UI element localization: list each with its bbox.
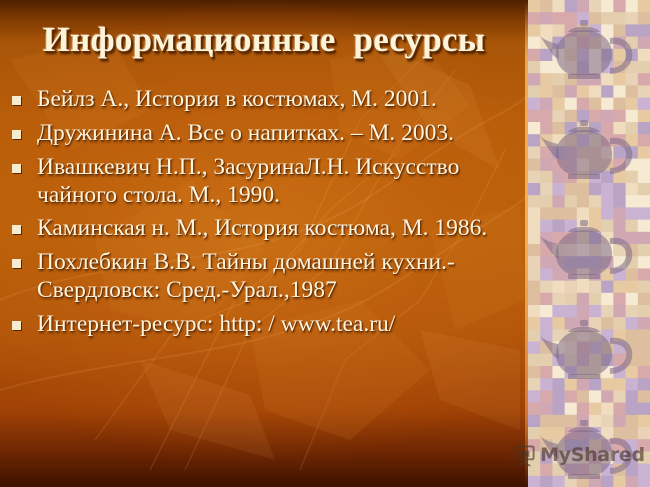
list-item-text: Бейлз А., История в костюмах, М. 2001. <box>37 86 437 112</box>
list-item: Ивашкевич Н.П., ЗасуринаЛ.Н. Искусство ч… <box>10 154 526 210</box>
slide-title: Информационные ресурсы <box>0 22 528 59</box>
presentation-slide: Информационные ресурсы Бейлз А., История… <box>0 0 650 487</box>
bullet-list: Бейлз А., История в костюмах, М. 2001. Д… <box>10 86 526 339</box>
myshared-watermark: MyShared <box>513 440 645 470</box>
presentation-screen-icon <box>513 444 536 467</box>
list-item-text: Похлебкин В.В. Тайны домашней кухни.- Св… <box>37 249 455 303</box>
square-bullet-icon <box>12 96 21 105</box>
list-item: Интернет-ресурс: http: / www.tea.ru/ <box>10 311 526 339</box>
square-bullet-icon <box>12 259 21 268</box>
square-bullet-icon <box>12 225 21 234</box>
decorative-sidebar <box>528 0 650 487</box>
list-item: Дружинина А. Все о напитках. – М. 2003. <box>10 120 526 148</box>
watermark-label: MyShared <box>540 446 645 465</box>
list-item: Каминская н. М., История костюма, М. 198… <box>10 215 526 243</box>
list-item-text: Ивашкевич Н.П., ЗасуринаЛ.Н. Искусство ч… <box>37 154 459 208</box>
square-bullet-icon <box>12 164 21 173</box>
list-item: Бейлз А., История в костюмах, М. 2001. <box>10 86 526 114</box>
square-bullet-icon <box>12 321 21 330</box>
list-item-text: Каминская н. М., История костюма, М. 198… <box>37 215 487 241</box>
list-item-text: Дружинина А. Все о напитках. – М. 2003. <box>37 120 454 146</box>
list-item-text: Интернет-ресурс: http: / www.tea.ru/ <box>37 311 395 337</box>
teapot-illustrations <box>528 0 650 487</box>
square-bullet-icon <box>12 130 21 139</box>
list-item: Похлебкин В.В. Тайны домашней кухни.- Св… <box>10 249 526 305</box>
